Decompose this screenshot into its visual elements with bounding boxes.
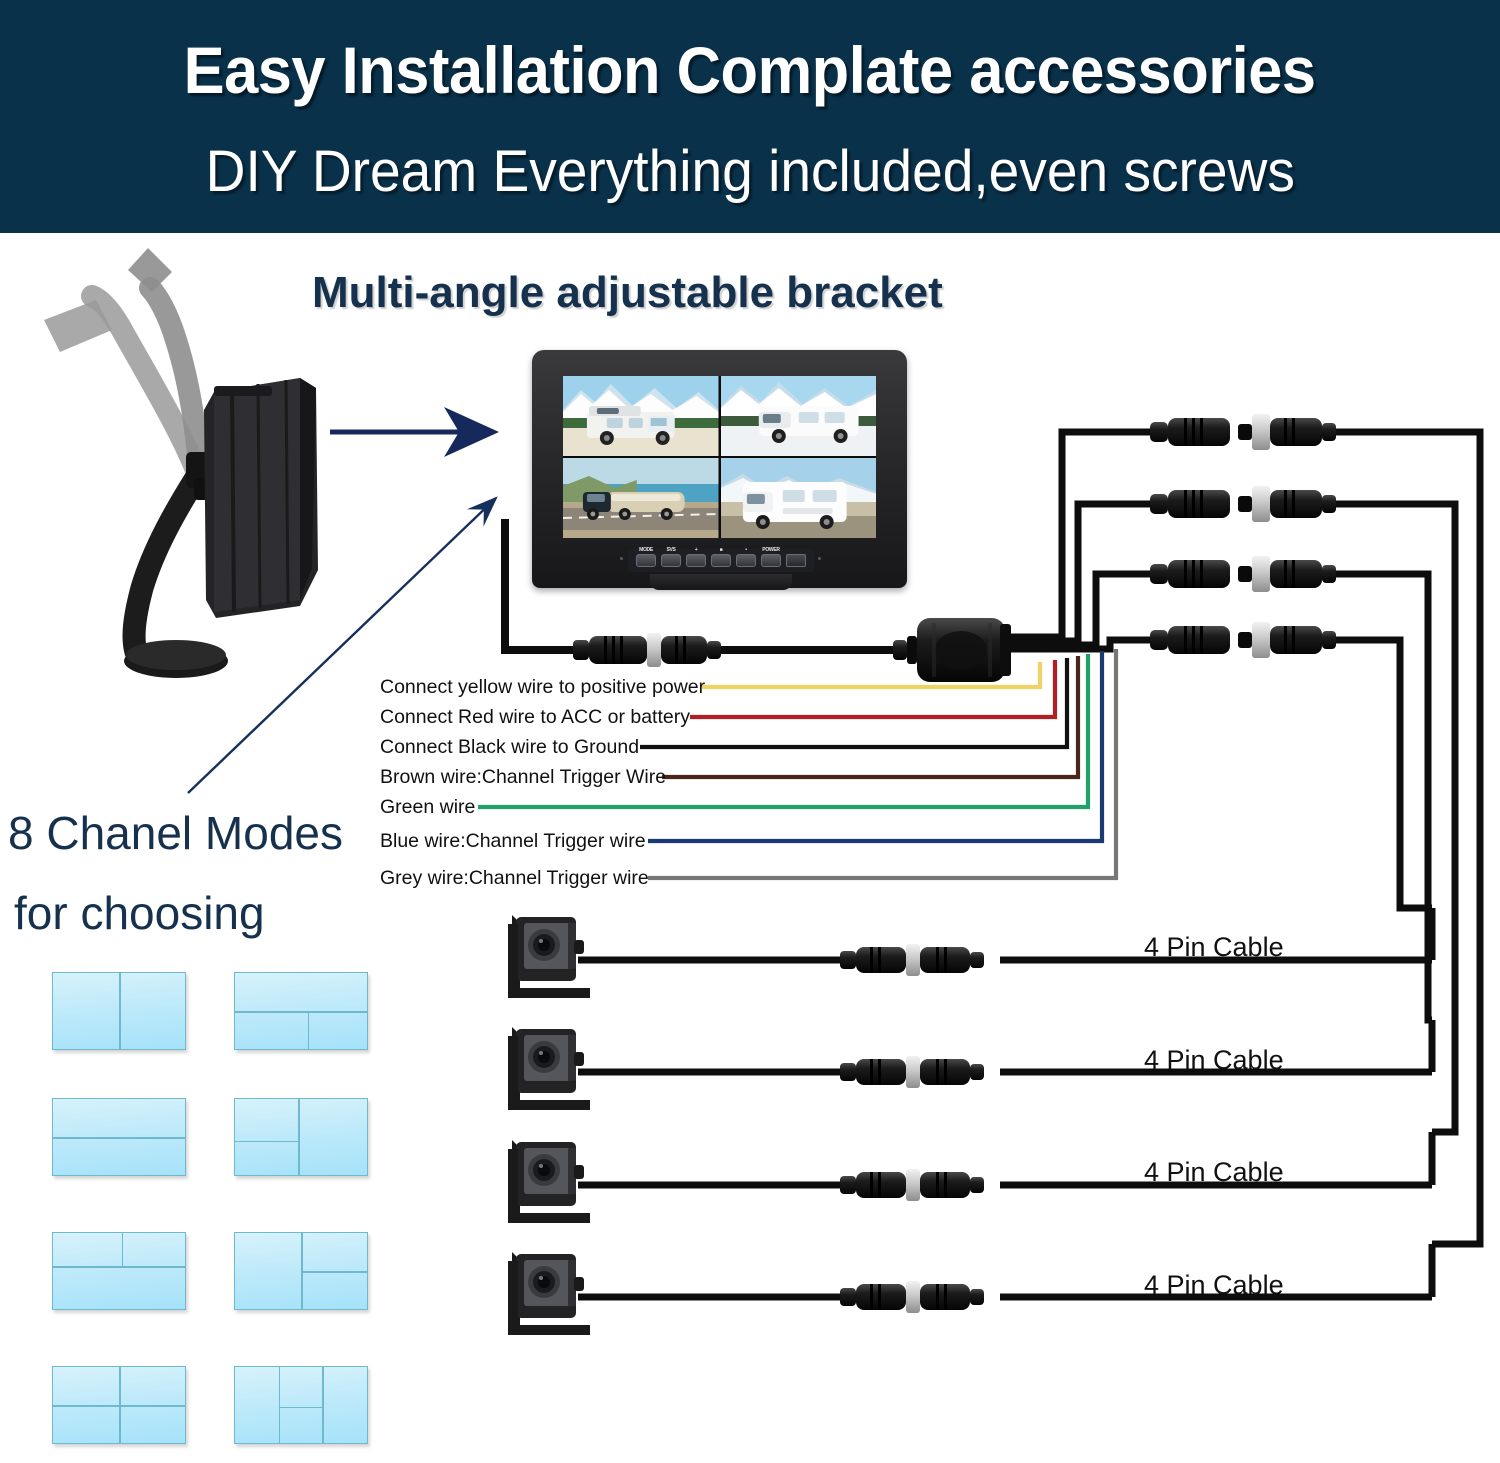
screen-view-3 [563, 458, 719, 538]
quad-view-monitor: MODE SVS + ■ • POWER [532, 350, 907, 588]
wiring-diagram-layer [0, 0, 1500, 1463]
camera-2 [508, 1027, 590, 1110]
wire-label-yellow: Connect yellow wire to positive power [380, 676, 705, 699]
mode-2-divider-h [235, 1011, 367, 1013]
camera-3 [508, 1140, 590, 1223]
mode-4-divider-h [235, 1141, 298, 1143]
mode-6-divider-h [301, 1271, 367, 1273]
mode-layout-6[interactable] [234, 1232, 368, 1310]
monitor-button-mode[interactable]: MODE [636, 554, 656, 567]
monitor-button-extra[interactable] [786, 554, 806, 567]
mode-4-divider-v [298, 1099, 300, 1175]
mode-layout-1[interactable] [52, 972, 186, 1050]
mode-layout-3[interactable] [52, 1098, 186, 1176]
mode-7-divider-h [53, 1405, 185, 1407]
cable-label-3: 4 Pin Cable [1144, 1157, 1284, 1188]
camera-connector-2 [840, 1056, 984, 1088]
mode-layout-5[interactable] [52, 1232, 186, 1310]
monitor-button-dot-label: • [737, 547, 755, 553]
mode-1-divider-v [119, 973, 121, 1049]
camera-connector-4 [840, 1281, 984, 1313]
wire-label-red: Connect Red wire to ACC or battery [380, 706, 690, 729]
mode-8-divider-v2 [322, 1367, 324, 1443]
wire-label-grey: Grey wire:Channel Trigger wire [380, 867, 649, 890]
camera-connector-1 [840, 944, 984, 976]
bracket-title: Multi-angle adjustable bracket [312, 268, 943, 318]
camera-4 [508, 1252, 590, 1335]
infographic-page: Easy Installation Complate accessories D… [0, 0, 1500, 1463]
mode-3-divider-h [53, 1137, 185, 1139]
monitor-button-dot[interactable]: • [736, 554, 756, 567]
monitor-button-mode-label: MODE [637, 547, 655, 553]
connector-pair-2 [1150, 486, 1336, 522]
monitor-button-stop-label: ■ [712, 547, 730, 553]
camera-1 [508, 915, 590, 998]
connector-pair-4 [1150, 622, 1336, 658]
monitor-button-stop[interactable]: ■ [711, 554, 731, 567]
monitor-led [620, 557, 623, 560]
splitter-box [893, 618, 1011, 682]
monitor-button-plus-label: + [687, 547, 705, 553]
channel-modes-heading-line1: 8 Chanel Modes [8, 806, 343, 860]
cable-label-2: 4 Pin Cable [1144, 1045, 1284, 1076]
monitor-connector [573, 633, 721, 667]
connector-pair-3 [1150, 556, 1336, 592]
screen-view-4 [721, 458, 877, 538]
mode-5-divider-h [53, 1266, 185, 1268]
mode-8-divider-v1 [279, 1367, 281, 1443]
monitor-button-svs-label: SVS [662, 547, 680, 553]
cable-label-1: 4 Pin Cable [1144, 932, 1284, 963]
mode-layout-4[interactable] [234, 1098, 368, 1176]
mode-layout-7[interactable] [52, 1366, 186, 1444]
monitor-button-svs[interactable]: SVS [661, 554, 681, 567]
monitor-ir-sensor [818, 557, 821, 560]
adjustable-bracket [44, 248, 318, 678]
mode-2-divider-v [308, 1011, 310, 1049]
mode-8-divider-h [279, 1407, 323, 1409]
monitor-button-plus[interactable]: + [686, 554, 706, 567]
monitor-button-bar[interactable]: MODE SVS + ■ • POWER [628, 549, 814, 572]
connector-pair-1 [1150, 414, 1336, 450]
screen-view-1 [563, 376, 719, 456]
monitor-button-power[interactable]: POWER [761, 554, 781, 567]
mode-layout-8[interactable] [234, 1366, 368, 1444]
wire-label-blue: Blue wire:Channel Trigger wire [380, 830, 646, 853]
monitor-screen [563, 376, 876, 538]
wire-label-brown: Brown wire:Channel Trigger Wire [380, 766, 666, 789]
mode-layout-2[interactable] [234, 972, 368, 1050]
cable-label-4: 4 Pin Cable [1144, 1270, 1284, 1301]
wire-label-black: Connect Black wire to Ground [380, 736, 639, 759]
monitor-stand-foot [650, 574, 792, 590]
screen-view-2 [721, 376, 877, 456]
channel-modes-heading-line2: for choosing [14, 886, 265, 940]
wire-label-green: Green wire [380, 796, 475, 819]
mode-5-divider-v [122, 1233, 124, 1266]
monitor-button-power-label: POWER [762, 547, 780, 553]
camera-connector-3 [840, 1169, 984, 1201]
